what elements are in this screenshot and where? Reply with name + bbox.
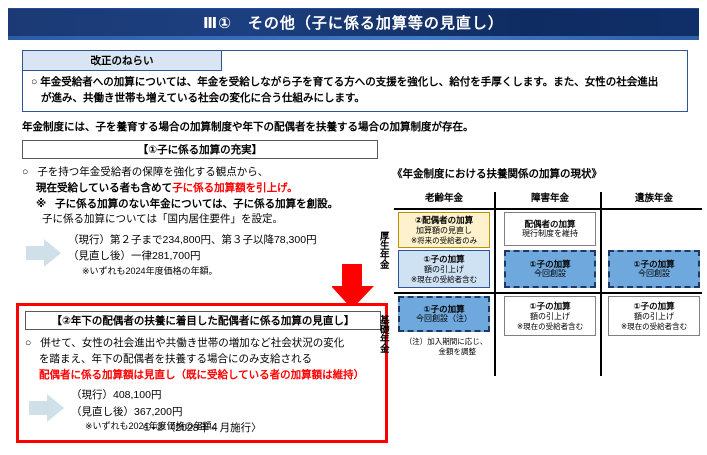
matrix-column-header-1: 障害年金 xyxy=(502,188,598,206)
cell-note: ※将来の受給者のみ xyxy=(411,236,477,245)
section-2-bullet: ○ xyxy=(25,337,31,349)
section-2-line-3: 配偶者に係る加算額は見直し（既に受給している者の加算額は維持） xyxy=(25,368,381,384)
aim-line-2: が進み、共働き世帯も増えている社会の変化に合う仕組みにします。 xyxy=(31,92,365,104)
cell-title: ①子の加算 xyxy=(529,259,570,270)
cell-sub: 今回創設 xyxy=(638,269,670,279)
implementation-footer: ①・②〈2028年４月施行〉 xyxy=(19,420,385,435)
cell-sub: 額の引上げ xyxy=(634,312,674,322)
matrix-cell-kiso-izo-child: ①子の加算 額の引上げ ※現在の受給者含む xyxy=(608,296,700,336)
aim-body: ○ 年金受給者への加算については、年金を受給しながら子を育てる方への支援を強化し… xyxy=(31,74,679,107)
lead-sentence: 年金制度には、子を養育する場合の加算制度や年下の配偶者を扶養する場合の加算制度が… xyxy=(22,119,682,134)
matrix-divider-vertical-1 xyxy=(494,192,496,376)
section-1-revised: （見直し後）一律281,700円 xyxy=(68,248,378,264)
aim-box: 改正のねらい ○ 年金受給者への加算については、年金を受給しながら子を育てる方へ… xyxy=(22,50,688,112)
cell-title: ①子の加算 xyxy=(529,301,570,312)
page-title: Ⅲ① その他（子に係る加算等の見直し） xyxy=(203,12,504,33)
section-1-note-2: 子に係る加算については「国内居住要件」を設定。 xyxy=(22,212,378,228)
section-2-revised: （見直し後）367,200円 xyxy=(71,404,381,420)
slide-root: Ⅲ① その他（子に係る加算等の見直し） 改正のねらい ○ 年金受給者への加算につ… xyxy=(0,0,707,455)
section-2-line-1: 併せて、女性の社会進出や共働き世帯の増加など社会状況の変化 xyxy=(34,337,344,349)
cell-title: ①子の加算 xyxy=(423,254,464,265)
matrix-divider-horizontal-top xyxy=(394,208,702,210)
matrix-row-label-kiso: 基礎年金 xyxy=(376,306,390,362)
cell-sub: 額の引上げ xyxy=(424,265,464,275)
section-2: 【②年下の配偶者の扶養に着目した配偶者に係る加算の見直し】 ○ 併せて、女性の社… xyxy=(16,303,388,443)
cell-note: ※現在の受給者含む xyxy=(411,275,477,284)
cell-sub: 今回創設（注） xyxy=(416,314,472,324)
cell-sub: 今回創設 xyxy=(534,269,566,279)
aim-tab-label: 改正のねらい xyxy=(22,50,222,71)
section-2-inner: 【②年下の配偶者の扶養に着目した配偶者に係る加算の見直し】 ○ 併せて、女性の社… xyxy=(25,311,381,434)
matrix-cell-kiso-sho-child: ①子の加算 額の引上げ ※現在の受給者含む xyxy=(504,296,596,336)
blue-arrow-icon-1 xyxy=(26,238,62,268)
section-2-line-2: を踏まえ、年下の配偶者を扶養する場合にのみ支給される xyxy=(25,352,381,368)
section-1-line-1: 子を持つ年金受給者の保障を強化する観点から、 xyxy=(31,166,268,178)
section-1-note-1: 子に係る加算のない年金については、子に係る加算を創設。 xyxy=(49,198,338,210)
section-1-heading: 【①子に係る加算の充実】 xyxy=(22,140,378,159)
cell-sub: 加算額の見直し xyxy=(416,226,472,236)
section-1-line-2-red: 子に係る加算額を引上げ。 xyxy=(172,182,297,194)
section-2-current: （現行）408,100円 xyxy=(71,387,381,403)
matrix-cell-kosei-izo-child: ①子の加算 今回創設 xyxy=(608,250,700,288)
section-1-body: ○ 子を持つ年金受給者の保障を強化する観点から、 現在受給している者も含めて子に… xyxy=(22,165,378,278)
matrix-divider-vertical-2 xyxy=(600,192,602,376)
cell-title: ①子の加算 xyxy=(633,301,674,312)
aim-bullet: ○ xyxy=(31,76,37,88)
matrix-column-header-0: 老齢年金 xyxy=(396,188,492,206)
matrix-cell-kosei-sho-child: ①子の加算 今回創設 xyxy=(504,250,596,288)
blue-arrow-icon-2 xyxy=(29,393,65,423)
matrix-row-label-kosei: 厚生年金 xyxy=(376,222,390,278)
slide-title-bar: Ⅲ① その他（子に係る加算等の見直し） xyxy=(8,8,699,36)
cell-sub: 現行制度を維持 xyxy=(522,229,578,239)
section-1-bullet: ○ xyxy=(22,166,28,178)
cell-title: ①子の加算 xyxy=(423,304,464,315)
matrix-cell-kosei-sho-spouse: 配偶者の加算 現行制度を維持 xyxy=(504,212,596,246)
section-1-note-row: ※ 子に係る加算のない年金については、子に係る加算を創設。 xyxy=(22,197,378,213)
cell-note: ※現在の受給者含む xyxy=(517,322,583,331)
cell-note: ※現在の受給者含む xyxy=(621,322,687,331)
section-1-note-mark: ※ xyxy=(36,198,46,210)
section-1-line-2: 現在受給している者も含めて子に係る加算額を引上げ。 xyxy=(22,181,378,197)
section-2-heading: 【②年下の配偶者の扶養に着目した配偶者に係る加算の見直し】 xyxy=(25,311,381,330)
cell-title: ①子の加算 xyxy=(633,259,674,270)
matrix-divider-horizontal-mid xyxy=(394,292,702,294)
matrix-column-header-2: 遺族年金 xyxy=(606,188,702,206)
section-1-current: （現行）第２子まで234,800円、第３子以降78,300円 xyxy=(68,232,378,248)
section-2-bullet-row: ○ 併せて、女性の社会進出や共働き世帯の増加など社会状況の変化 xyxy=(25,336,381,352)
pension-matrix: 老齢年金 障害年金 遺族年金 厚生年金 基礎年金 ②配偶者の加算 加算額の見直し… xyxy=(374,188,699,378)
section-1-bullet-row: ○ 子を持つ年金受給者の保障を強化する観点から、 xyxy=(22,165,378,181)
aim-line-1: 年金受給者への加算については、年金を受給しながら子を育てる方への支援を強化し、給… xyxy=(40,76,658,88)
section-1: 【①子に係る加算の充実】 ○ 子を持つ年金受給者の保障を強化する観点から、 現在… xyxy=(22,140,378,278)
section-1-amounts: （現行）第２子まで234,800円、第３子以降78,300円 （見直し後）一律2… xyxy=(22,232,378,278)
cell-sub: 額の引上げ xyxy=(530,312,570,322)
cell-title: 配偶者の加算 xyxy=(524,219,575,230)
matrix-heading: 《年金制度における扶養関係の加算の現状》 xyxy=(392,166,602,181)
matrix-note: （注）加入期間に応じ、 金額を調整 xyxy=(398,337,494,357)
matrix-cell-kosei-rou-child: ①子の加算 額の引上げ ※現在の受給者含む xyxy=(398,250,490,288)
matrix-cell-kosei-rou-spouse: ②配偶者の加算 加算額の見直し ※将来の受給者のみ xyxy=(398,212,490,248)
cell-title: ②配偶者の加算 xyxy=(415,215,473,226)
matrix-cell-kiso-rou-child: ①子の加算 今回創設（注） xyxy=(398,296,490,332)
section-1-line-2-bold: 現在受給している者も含めて xyxy=(36,182,172,194)
